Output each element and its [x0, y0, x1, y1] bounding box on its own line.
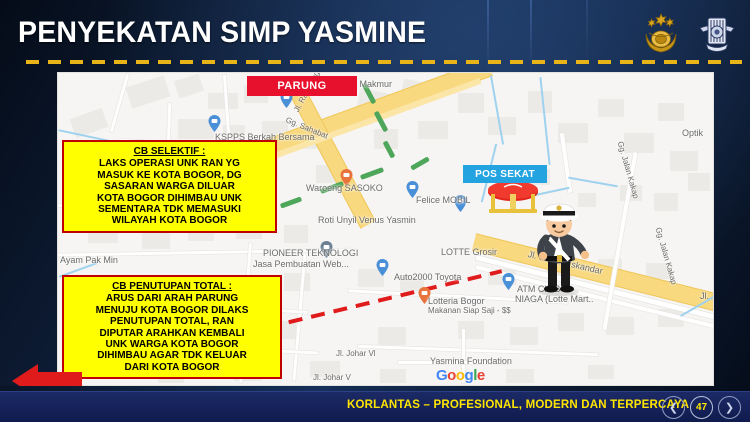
- cb-selektif-line: KOTA BOGOR DIHIMBAU UNK: [67, 193, 272, 204]
- cb-selektif-line: LAKS OPERASI UNK RAN YG: [67, 158, 272, 169]
- map-label: LOTTE Grosir: [441, 247, 497, 257]
- google-letter: g: [465, 367, 474, 384]
- google-letter: o: [456, 367, 465, 384]
- cb-penutupan-line: DIPUTAR ARAHKAN KEMBALI: [67, 328, 277, 339]
- map-label: Auto2000 Toyota: [394, 272, 461, 282]
- slide-root: PENYEKATAN SIMP YASMINE: [0, 0, 750, 422]
- cb-selektif-line: MASUK KE KOTA BOGOR, DG: [67, 170, 272, 181]
- map-label: Waroeng SASOKO: [306, 183, 383, 193]
- map-label: Jl. Johar Vl: [336, 349, 376, 358]
- page-title: PENYEKATAN SIMP YASMINE: [18, 16, 426, 50]
- cb-selektif-heading: CB SELEKTIF :: [67, 146, 272, 157]
- map-label: Roti Unyil Venus Yasmin: [318, 215, 416, 225]
- parung-label: PARUNG: [247, 76, 357, 96]
- header-dashed-divider: [26, 60, 742, 64]
- google-letter: G: [436, 367, 447, 384]
- chevron-right-icon[interactable]: ❯: [718, 396, 741, 419]
- page-number-badge[interactable]: 47: [690, 396, 713, 419]
- cb-penutupan-heading: CB PENUTUPAN TOTAL :: [67, 281, 277, 292]
- google-letter: e: [477, 367, 485, 384]
- map-label: Lotteria Bogor: [428, 296, 485, 306]
- map-label: PIONEER TEKNOLOGI: [263, 248, 358, 258]
- map-label: Jl. Johar V: [313, 373, 351, 382]
- header-light-streak: [586, 0, 588, 60]
- cb-selektif-line: SASARAN WARGA DILUAR: [67, 181, 272, 192]
- map-label: Makanan Siap Saji - $$: [428, 306, 511, 315]
- cb-penutupan-line: DIHIMBAU AGAR TDK KELUAR: [67, 350, 277, 361]
- slide-nav-group[interactable]: ❮ 47 ❯: [662, 396, 741, 419]
- map-label: Felice MOBIL: [416, 195, 471, 205]
- map-label: Yasmina Foundation: [430, 356, 512, 366]
- map-poi-pin[interactable]: [502, 273, 515, 290]
- map-label: Jasa Pembuatan Web...: [253, 259, 349, 269]
- polri-gold-emblem-icon: [640, 10, 682, 56]
- cb-penutupan-line: UNK WARGA KOTA BOGOR: [67, 339, 277, 350]
- cb-selektif-box: CB SELEKTIF : LAKS OPERASI UNK RAN YG MA…: [62, 140, 277, 233]
- map-label: Ayam Pak Min: [60, 255, 118, 265]
- google-letter: o: [447, 367, 456, 384]
- korlantas-emblem-icon: [696, 10, 738, 56]
- cb-penutupan-line: DARI KOTA BOGOR: [67, 362, 277, 373]
- cb-selektif-line: SEMENTARA TDK MEMASUKI: [67, 204, 272, 215]
- cb-penutupan-total-box: CB PENUTUPAN TOTAL : ARUS DARI ARAH PARU…: [62, 275, 282, 379]
- pos-sekat-label: POS SEKAT: [463, 165, 547, 183]
- cb-penutupan-line: ARUS DARI ARAH PARUNG: [67, 293, 277, 304]
- cb-selektif-line: WILAYAH KOTA BOGOR: [67, 215, 272, 226]
- emblem-group: [640, 10, 738, 56]
- google-logo: Google: [436, 367, 485, 384]
- cb-penutupan-line: MENUJU KOTA BOGOR DILAKS: [67, 305, 277, 316]
- map-poi-pin[interactable]: [376, 259, 389, 276]
- footer-tagline: KORLANTAS – PROFESIONAL, MODERN DAN TERP…: [347, 399, 689, 411]
- cb-penutupan-line: PENUTUPAN TOTAL, RAN: [67, 316, 277, 327]
- map-label: Jl.: [700, 291, 709, 301]
- traffic-police-officer-icon: [528, 196, 590, 301]
- chevron-left-icon[interactable]: ❮: [662, 396, 685, 419]
- map-label: Optik: [682, 128, 703, 138]
- footer-bar: KORLANTAS – PROFESIONAL, MODERN DAN TERP…: [0, 391, 750, 422]
- map-poi-pin[interactable]: [208, 115, 221, 132]
